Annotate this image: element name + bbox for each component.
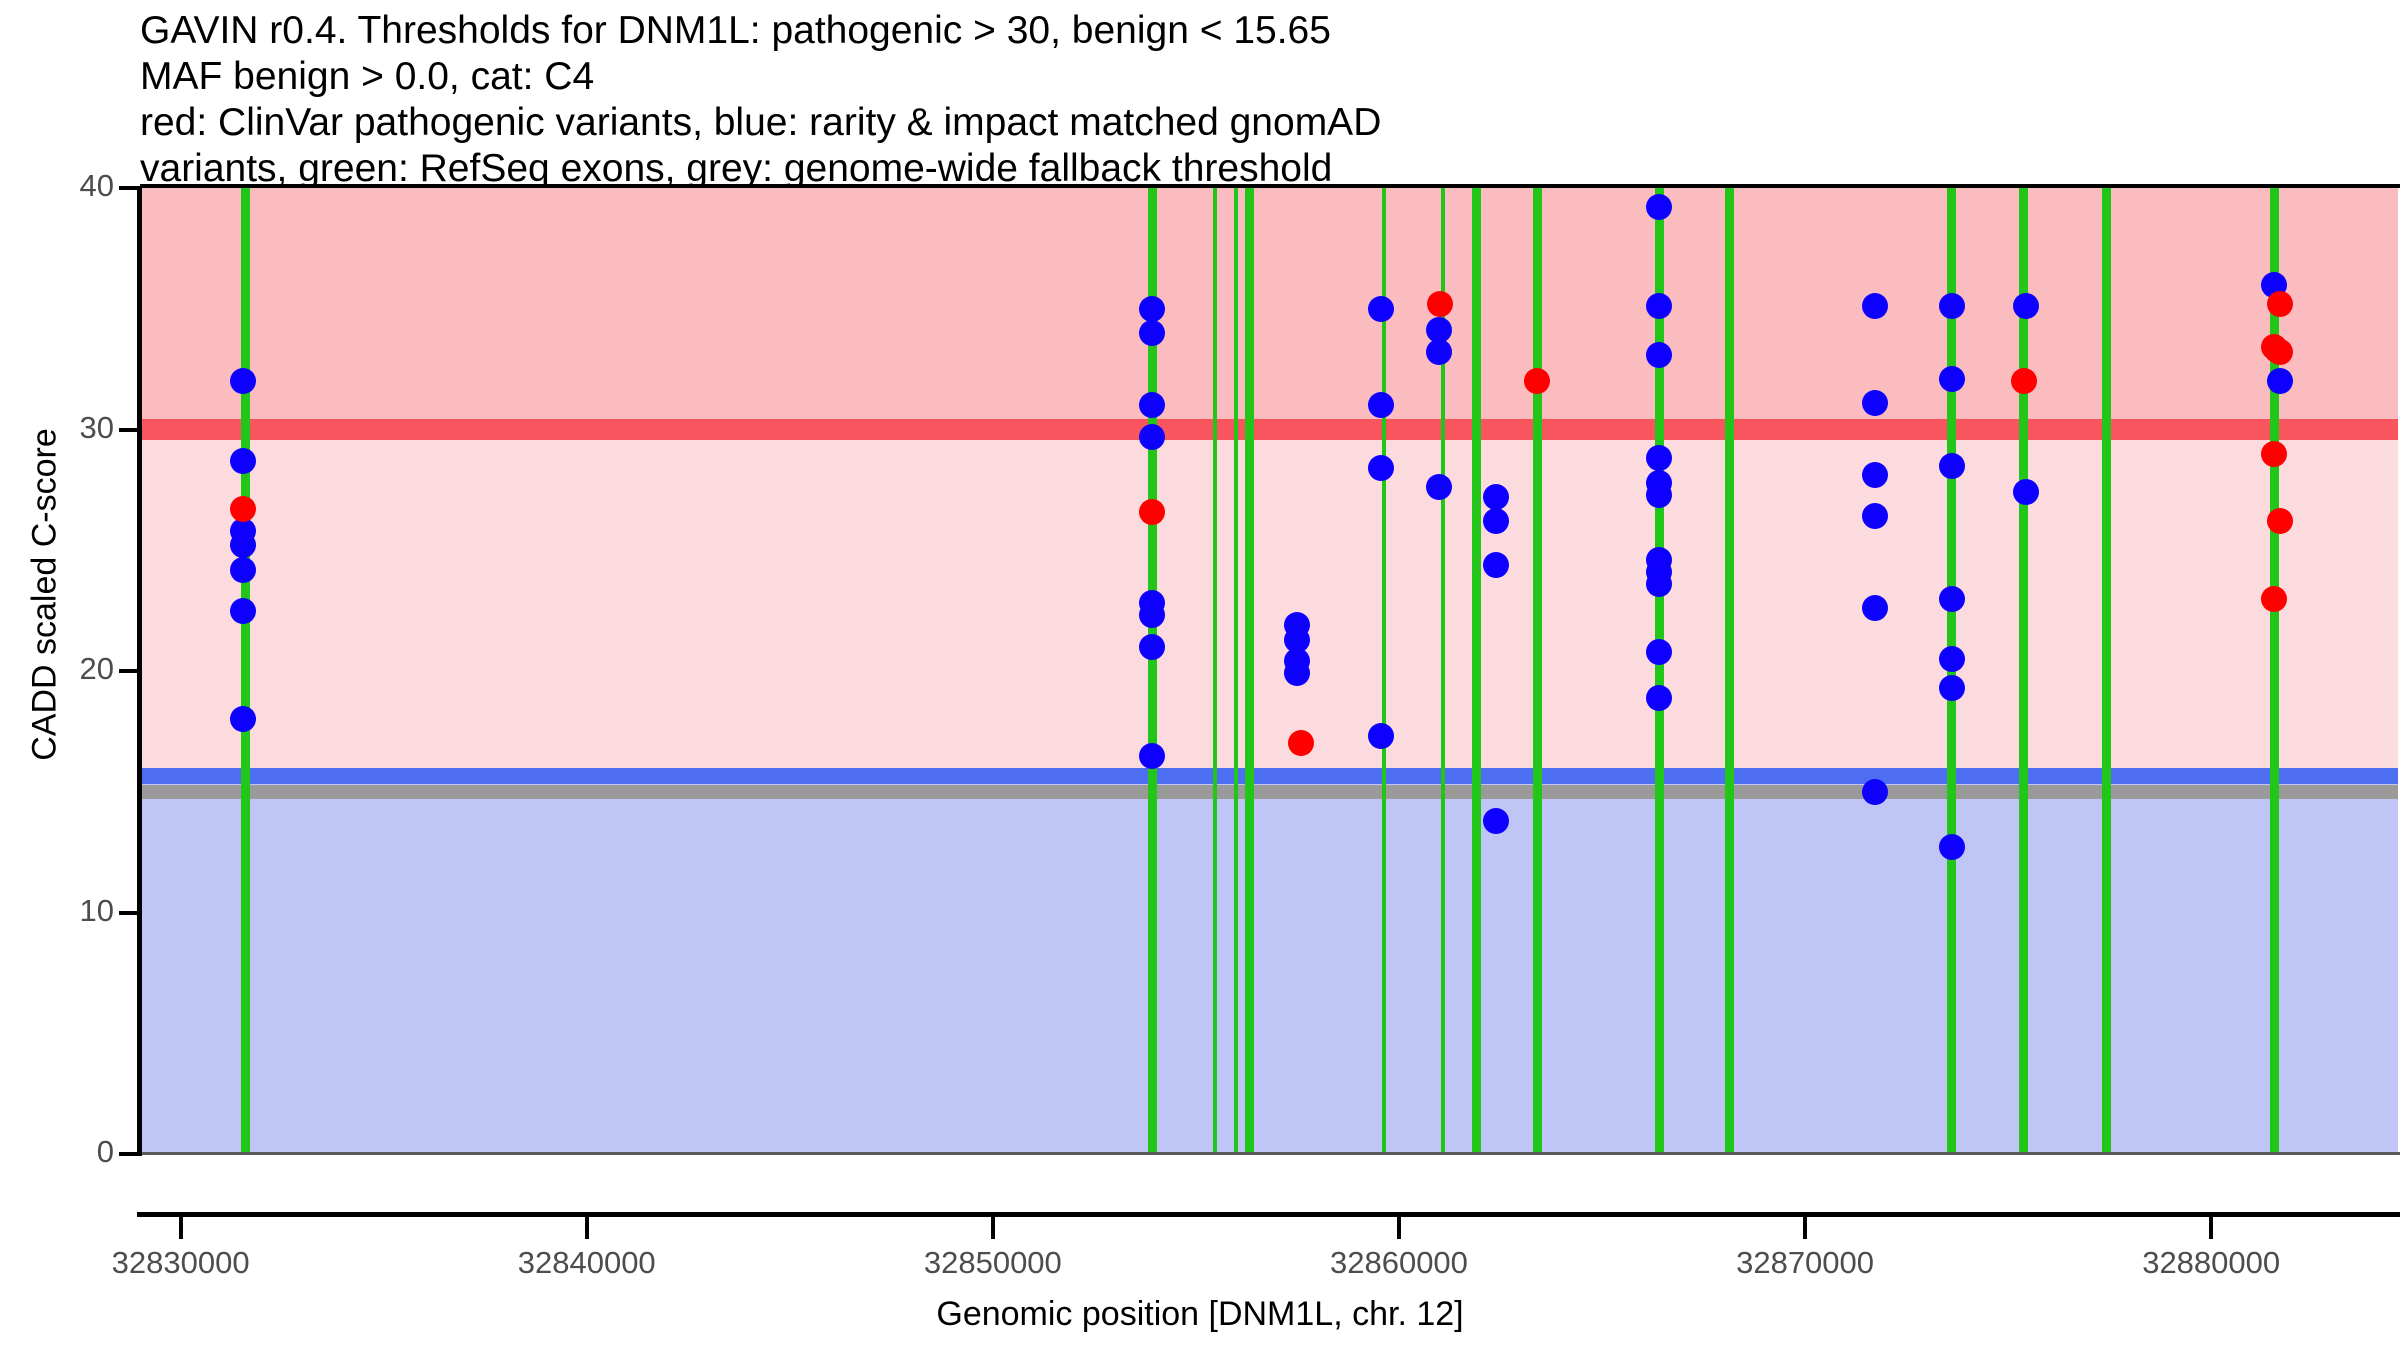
x-tick-label: 32870000	[1655, 1245, 1955, 1281]
exon-line	[1234, 188, 1238, 1154]
x-axis-line	[137, 1212, 2400, 1217]
y-tick-mark	[119, 1152, 139, 1156]
exon-line	[2102, 188, 2111, 1154]
gnomad-variant-point	[1939, 586, 1965, 612]
exon-line	[1382, 188, 1386, 1154]
benign-threshold-line	[140, 768, 2398, 784]
gnomad-variant-point	[1426, 339, 1452, 365]
gnomad-variant-point	[1483, 552, 1509, 578]
x-tick-mark	[585, 1217, 589, 1239]
fallback-threshold-line	[140, 785, 2398, 799]
x-tick-mark	[2209, 1217, 2213, 1239]
exon-line	[1533, 188, 1542, 1154]
x-tick-mark	[991, 1217, 995, 1239]
exon-line	[2270, 188, 2279, 1154]
gnomad-variant-point	[1646, 482, 1672, 508]
x-tick-label: 32830000	[31, 1245, 331, 1281]
panel-bottom-border	[140, 1152, 2400, 1155]
chart-root: GAVIN r0.4. Thresholds for DNM1L: pathog…	[0, 0, 2400, 1350]
exon-line	[1725, 188, 1734, 1154]
x-tick-mark	[1803, 1217, 1807, 1239]
pathogenic-variant-point	[2267, 291, 2293, 317]
gnomad-variant-point	[1368, 723, 1394, 749]
gnomad-variant-point	[230, 557, 256, 583]
gnomad-variant-point	[1646, 639, 1672, 665]
gnomad-variant-point	[1939, 453, 1965, 479]
y-axis-title: CADD scaled C-score	[26, 145, 65, 1045]
gnomad-variant-point	[1646, 571, 1672, 597]
pathogenic-threshold-line	[140, 419, 2398, 439]
gnomad-variant-point	[1368, 392, 1394, 418]
gnomad-variant-point	[1939, 646, 1965, 672]
x-tick-label: 32880000	[2061, 1245, 2361, 1281]
exon-line	[1213, 188, 1217, 1154]
exon-line	[241, 188, 250, 1154]
y-tick-label: 0	[0, 1134, 114, 1170]
x-tick-label: 32860000	[1249, 1245, 1549, 1281]
panel-top-border	[140, 184, 2400, 188]
gnomad-variant-point	[1862, 595, 1888, 621]
exon-line	[1655, 188, 1664, 1154]
pathogenic-variant-point	[2261, 586, 2287, 612]
gnomad-variant-point	[1939, 675, 1965, 701]
plot-area	[140, 188, 2398, 1154]
y-tick-mark	[119, 669, 139, 673]
gnomad-variant-point	[1646, 293, 1672, 319]
gnomad-variant-point	[1368, 296, 1394, 322]
gnomad-variant-point	[1646, 194, 1672, 220]
gnomad-variant-point	[1139, 743, 1165, 769]
gnomad-variant-point	[1139, 424, 1165, 450]
x-tick-label: 32850000	[843, 1245, 1143, 1281]
pathogenic-band-upper	[140, 188, 2398, 430]
pathogenic-variant-point	[1139, 499, 1165, 525]
gnomad-variant-point	[1862, 390, 1888, 416]
pathogenic-variant-point	[2264, 337, 2290, 363]
chart-title-block: GAVIN r0.4. Thresholds for DNM1L: pathog…	[140, 8, 2340, 192]
x-tick-label: 32840000	[437, 1245, 737, 1281]
gnomad-variant-point	[1862, 779, 1888, 805]
x-tick-mark	[179, 1217, 183, 1239]
pathogenic-band-lower	[140, 430, 2398, 777]
pathogenic-variant-point	[2261, 441, 2287, 467]
gnomad-variant-point	[230, 448, 256, 474]
benign-band	[140, 776, 2398, 1154]
gnomad-variant-point	[1483, 808, 1509, 834]
title-line-3: red: ClinVar pathogenic variants, blue: …	[140, 100, 2340, 146]
x-tick-mark	[1397, 1217, 1401, 1239]
y-tick-mark	[119, 186, 139, 190]
exon-line	[1472, 188, 1481, 1154]
y-tick-mark	[119, 428, 139, 432]
x-axis-title: Genomic position [DNM1L, chr. 12]	[0, 1295, 2400, 1334]
exon-line	[1245, 188, 1254, 1154]
title-line-1: GAVIN r0.4. Thresholds for DNM1L: pathog…	[140, 8, 2340, 54]
gnomad-variant-point	[1939, 366, 1965, 392]
gnomad-variant-point	[1646, 685, 1672, 711]
gnomad-variant-point	[230, 598, 256, 624]
y-tick-mark	[119, 911, 139, 915]
title-line-2: MAF benign > 0.0, cat: C4	[140, 54, 2340, 100]
gnomad-variant-point	[1646, 342, 1672, 368]
gnomad-variant-point	[1368, 455, 1394, 481]
exon-line	[2019, 188, 2028, 1154]
